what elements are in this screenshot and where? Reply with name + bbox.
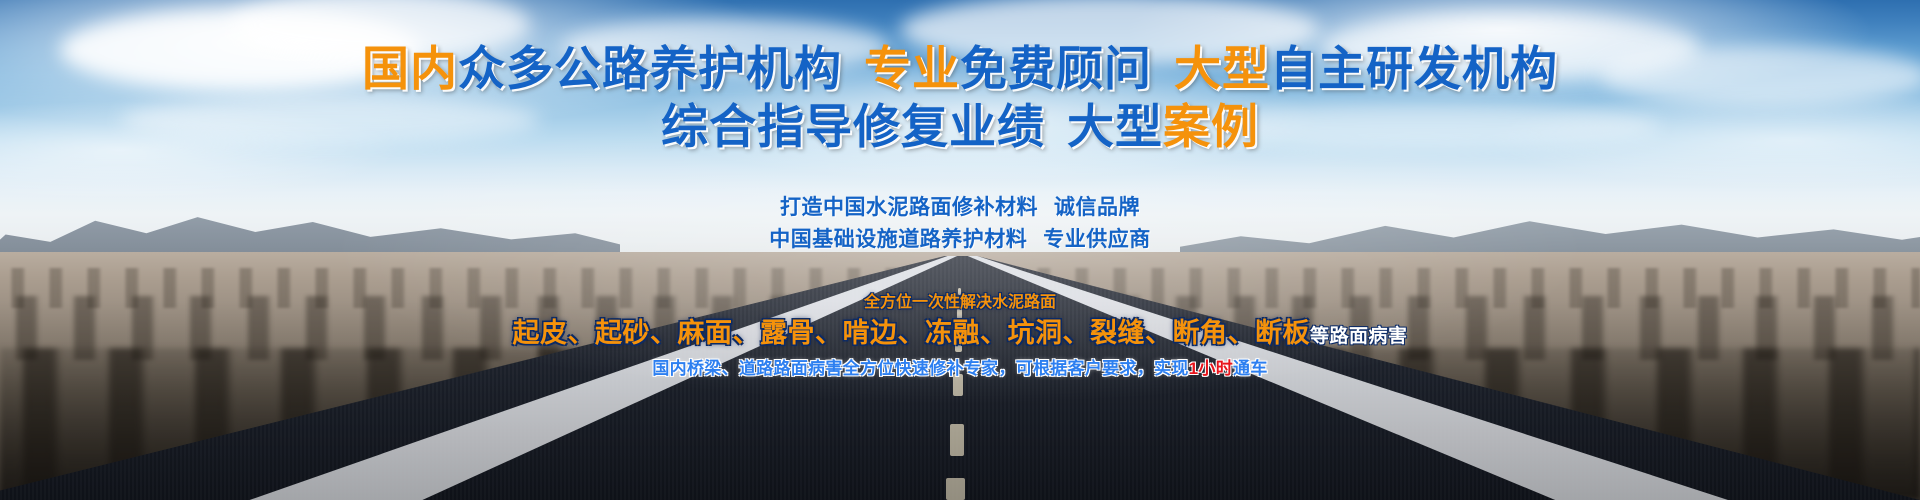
- headline-seg-zizhu: 自主研发机构: [1270, 42, 1558, 95]
- subtitle-line-2: 中国基础设施道路养护材料专业供应商: [0, 224, 1920, 256]
- headline-seg-zhongduo: 众多公路养护机构: [458, 42, 842, 95]
- headline-seg-zhuanye: 专业: [864, 42, 960, 95]
- headline-seg-anli: 案例: [1163, 100, 1259, 153]
- headline-line-1: 国内众多公路养护机构专业免费顾问大型自主研发机构: [362, 42, 1558, 95]
- headline-line-2: 综合指导修复业绩大型案例: [0, 98, 1920, 156]
- banner-content: 国内众多公路养护机构专业免费顾问大型自主研发机构 综合指导修复业绩大型案例 打造…: [0, 0, 1920, 500]
- headline-seg-daxing: 大型: [1174, 42, 1270, 95]
- headline: 国内众多公路养护机构专业免费顾问大型自主研发机构 综合指导修复业绩大型案例: [0, 40, 1920, 156]
- defects-lead-text: 全方位一次性解决水泥路面: [0, 292, 1920, 314]
- subtitle-line-1: 打造中国水泥路面修补材料诚信品牌: [0, 192, 1920, 224]
- defects-list-tail: 等路面病害: [1310, 326, 1408, 347]
- promo-banner: 国内众多公路养护机构专业免费顾问大型自主研发机构 综合指导修复业绩大型案例 打造…: [0, 0, 1920, 500]
- defects-list: 起皮、起砂、麻面、露骨、啃边、冻融、坑洞、裂缝、断角、断板: [512, 318, 1310, 348]
- subtitle-line2-tag: 专业供应商: [1043, 228, 1151, 251]
- headline-seg-zonghe: 综合指导修复业绩: [661, 100, 1045, 153]
- defects-block: 全方位一次性解决水泥路面 起皮、起砂、麻面、露骨、啃边、冻融、坑洞、裂缝、断角、…: [0, 292, 1920, 382]
- headline-seg-mianfei: 免费顾问: [960, 42, 1152, 95]
- footer-text-b: 通车: [1233, 359, 1268, 378]
- footer-text-a: 国内桥梁、道路路面病害全方位快速修补专家，可根据客户要求，实现: [652, 359, 1188, 378]
- headline-seg-guonei: 国内: [362, 42, 458, 95]
- footer-highlight-duration: 1小时: [1189, 359, 1233, 378]
- headline-seg-daxing2: 大型: [1067, 100, 1163, 153]
- subtitle-line2-main: 中国基础设施道路养护材料: [769, 228, 1027, 251]
- defects-list-line: 起皮、起砂、麻面、露骨、啃边、冻融、坑洞、裂缝、断角、断板等路面病害: [0, 314, 1920, 356]
- subtitle: 打造中国水泥路面修补材料诚信品牌 中国基础设施道路养护材料专业供应商: [0, 192, 1920, 256]
- subtitle-line1-tag: 诚信品牌: [1054, 196, 1140, 219]
- defects-footer-line: 国内桥梁、道路路面病害全方位快速修补专家，可根据客户要求，实现1小时通车: [0, 356, 1920, 382]
- subtitle-line1-main: 打造中国水泥路面修补材料: [780, 196, 1038, 219]
